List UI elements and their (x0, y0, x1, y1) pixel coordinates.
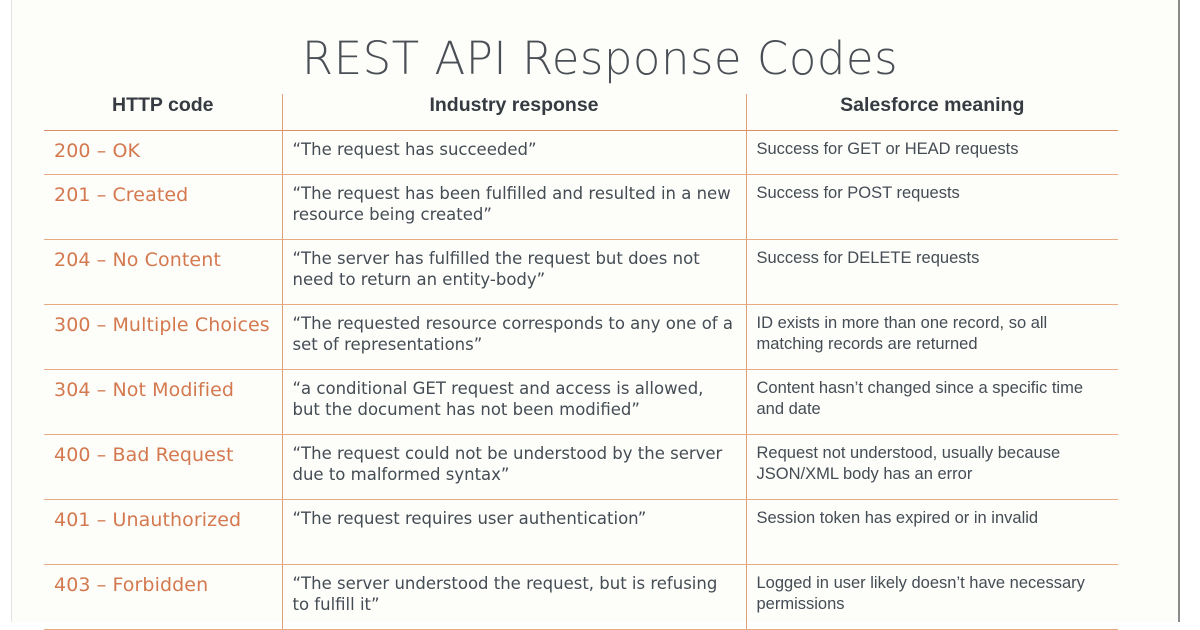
cell-salesforce-meaning: Success for GET or HEAD requests (746, 131, 1118, 175)
cell-industry-response: “The requested resource corresponds to a… (282, 304, 746, 369)
cell-http-code: 200 – OK (44, 131, 282, 175)
cell-salesforce-meaning: Session token has expired or in invalid (746, 499, 1118, 564)
slide-left-edge (0, 0, 12, 630)
cell-industry-response: “The request has succeeded” (282, 131, 746, 175)
cell-http-code: 204 – No Content (44, 239, 282, 304)
slide-right-edge-rule (1178, 0, 1180, 630)
table-row: 401 – Unauthorized“The request requires … (44, 499, 1118, 564)
table-row: 201 – Created“The request has been fulfi… (44, 174, 1118, 239)
cell-http-code: 304 – Not Modified (44, 369, 282, 434)
column-header-salesforce-meaning: Salesforce meaning (746, 94, 1118, 131)
cell-salesforce-meaning: Success for DELETE requests (746, 239, 1118, 304)
slide-canvas: REST API Response Codes HTTP code Indust… (0, 0, 1200, 630)
cell-http-code: 403 – Forbidden (44, 564, 282, 629)
page-title: REST API Response Codes (0, 32, 1200, 85)
cell-http-code: 300 – Multiple Choices (44, 304, 282, 369)
cell-http-code: 400 – Bad Request (44, 434, 282, 499)
table-row: 300 – Multiple Choices“The requested res… (44, 304, 1118, 369)
cell-salesforce-meaning: Success for POST requests (746, 174, 1118, 239)
header-row: HTTP code Industry response Salesforce m… (44, 94, 1118, 131)
cell-industry-response: “The request could not be understood by … (282, 434, 746, 499)
column-header-industry-response: Industry response (282, 94, 746, 131)
table-row: 200 – OK“The request has succeeded”Succe… (44, 131, 1118, 175)
cell-salesforce-meaning: ID exists in more than one record, so al… (746, 304, 1118, 369)
cell-http-code: 201 – Created (44, 174, 282, 239)
table-row: 304 – Not Modified“a conditional GET req… (44, 369, 1118, 434)
response-codes-table-wrapper: HTTP code Industry response Salesforce m… (44, 94, 1118, 610)
table-header: HTTP code Industry response Salesforce m… (44, 94, 1118, 131)
cell-salesforce-meaning: Request not understood, usually because … (746, 434, 1118, 499)
cell-industry-response: “The server understood the request, but … (282, 564, 746, 629)
cell-industry-response: “The server has fulfilled the request bu… (282, 239, 746, 304)
cell-industry-response: “a conditional GET request and access is… (282, 369, 746, 434)
table-body: 200 – OK“The request has succeeded”Succe… (44, 131, 1118, 630)
column-header-http-code: HTTP code (44, 94, 282, 131)
response-codes-table: HTTP code Industry response Salesforce m… (44, 94, 1118, 630)
cell-salesforce-meaning: Content hasn’t changed since a specific … (746, 369, 1118, 434)
table-row: 400 – Bad Request“The request could not … (44, 434, 1118, 499)
slide-right-gutter (1178, 0, 1200, 630)
cell-industry-response: “The request requires user authenticatio… (282, 499, 746, 564)
cell-http-code: 401 – Unauthorized (44, 499, 282, 564)
table-row: 403 – Forbidden“The server understood th… (44, 564, 1118, 629)
table-row: 204 – No Content“The server has fulfille… (44, 239, 1118, 304)
cell-industry-response: “The request has been fulfilled and resu… (282, 174, 746, 239)
cell-salesforce-meaning: Logged in user likely doesn’t have neces… (746, 564, 1118, 629)
